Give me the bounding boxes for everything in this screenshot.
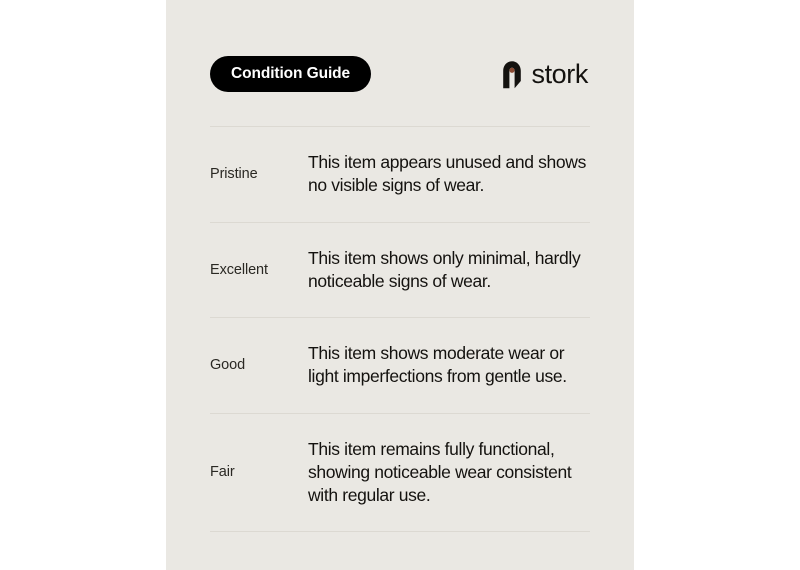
- condition-description: This item shows only minimal, hardly not…: [308, 223, 590, 318]
- card-header: Condition Guide stork: [210, 56, 590, 92]
- condition-description: This item shows moderate wear or light i…: [308, 318, 590, 413]
- condition-description: This item remains fully functional, show…: [308, 414, 590, 532]
- brand-name: stork: [531, 61, 588, 88]
- table-row: Fair This item remains fully functional,…: [210, 413, 590, 533]
- condition-description: This item appears unused and shows no vi…: [308, 127, 590, 222]
- condition-label: Pristine: [210, 127, 308, 222]
- table-row: Excellent This item shows only minimal, …: [210, 222, 590, 318]
- page-root: Condition Guide stork Pristine This item…: [0, 0, 800, 570]
- brand-lockup: stork: [500, 59, 588, 89]
- condition-guide-table: Pristine This item appears unused and sh…: [210, 126, 590, 532]
- condition-guide-badge: Condition Guide: [210, 56, 371, 92]
- table-row: Good This item shows moderate wear or li…: [210, 317, 590, 413]
- condition-guide-card: Condition Guide stork Pristine This item…: [166, 0, 634, 570]
- table-row: Pristine This item appears unused and sh…: [210, 126, 590, 222]
- condition-label: Fair: [210, 414, 308, 532]
- stork-arch-logo-icon: [500, 59, 524, 89]
- condition-label: Good: [210, 318, 308, 413]
- condition-label: Excellent: [210, 223, 308, 318]
